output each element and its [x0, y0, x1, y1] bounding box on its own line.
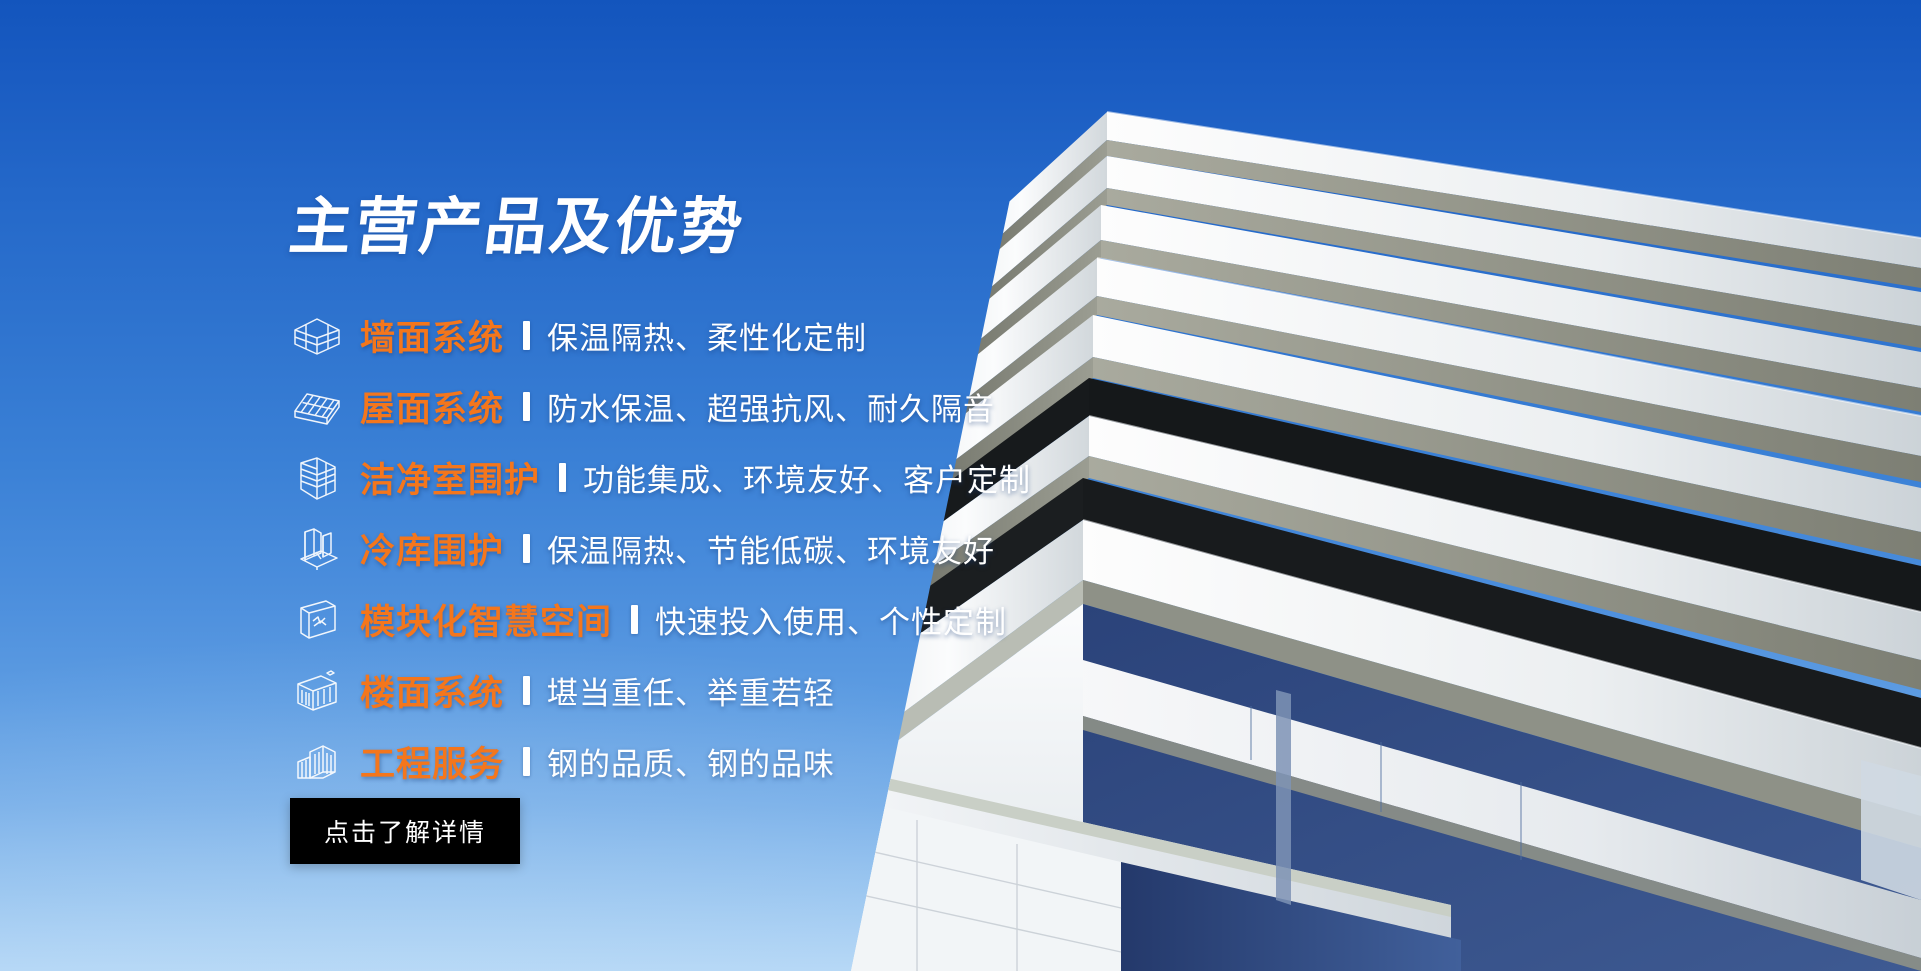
- product-desc: 快速投入使用、个性定制: [655, 597, 1007, 642]
- row-separator: [559, 463, 566, 492]
- product-list: 墙面系统 保温隔热、柔性化定制: [288, 300, 1031, 797]
- product-title: 冷库围护: [360, 523, 504, 574]
- product-row-roof-system[interactable]: 屋面系统 防水保温、超强抗风、耐久隔音: [288, 371, 1031, 442]
- product-desc: 保温隔热、柔性化定制: [547, 313, 867, 358]
- row-separator: [631, 605, 638, 634]
- product-desc: 功能集成、环境友好、客户定制: [583, 455, 1031, 500]
- product-row-wall-system[interactable]: 墙面系统 保温隔热、柔性化定制: [288, 300, 1031, 371]
- learn-more-button[interactable]: 点击了解详情: [290, 798, 520, 864]
- hero-content: 主营产品及优势 墙面系统 保温隔热、柔性化定制: [0, 0, 1100, 971]
- product-desc: 堪当重任、举重若轻: [547, 668, 835, 713]
- product-row-floor-system[interactable]: 楼面系统 堪当重任、举重若轻: [288, 655, 1031, 726]
- product-row-engineering-service[interactable]: 工程服务 钢的品质、钢的品味: [288, 726, 1031, 797]
- wall-panel-icon: [288, 310, 346, 362]
- roof-panel-icon: [288, 381, 346, 433]
- cleanroom-building-icon: [288, 452, 346, 504]
- product-row-modular-smart-space[interactable]: 模块化智慧空间 快速投入使用、个性定制: [288, 584, 1031, 655]
- product-row-cold-storage-envelope[interactable]: 冷库围护 保温隔热、节能低碳、环境友好: [288, 513, 1031, 584]
- modular-cube-icon: [288, 594, 346, 646]
- hero-banner: 主营产品及优势 墙面系统 保温隔热、柔性化定制: [0, 0, 1921, 971]
- product-desc: 防水保温、超强抗风、耐久隔音: [547, 384, 995, 429]
- product-title: 楼面系统: [360, 665, 504, 716]
- product-desc: 钢的品质、钢的品味: [547, 739, 835, 784]
- row-separator: [523, 321, 530, 350]
- product-title: 工程服务: [360, 736, 504, 787]
- product-title: 洁净室围护: [360, 452, 540, 503]
- product-title: 墙面系统: [360, 310, 504, 361]
- product-row-cleanroom-envelope[interactable]: 洁净室围护 功能集成、环境友好、客户定制: [288, 442, 1031, 513]
- row-separator: [523, 534, 530, 563]
- product-title: 屋面系统: [360, 381, 504, 432]
- page-title: 主营产品及优势: [286, 196, 749, 258]
- product-title: 模块化智慧空间: [360, 594, 612, 645]
- row-separator: [523, 392, 530, 421]
- floor-system-icon: [288, 665, 346, 717]
- row-separator: [523, 747, 530, 776]
- row-separator: [523, 676, 530, 705]
- product-desc: 保温隔热、节能低碳、环境友好: [547, 526, 995, 571]
- engineering-service-icon: [288, 736, 346, 788]
- cold-storage-icon: [288, 523, 346, 575]
